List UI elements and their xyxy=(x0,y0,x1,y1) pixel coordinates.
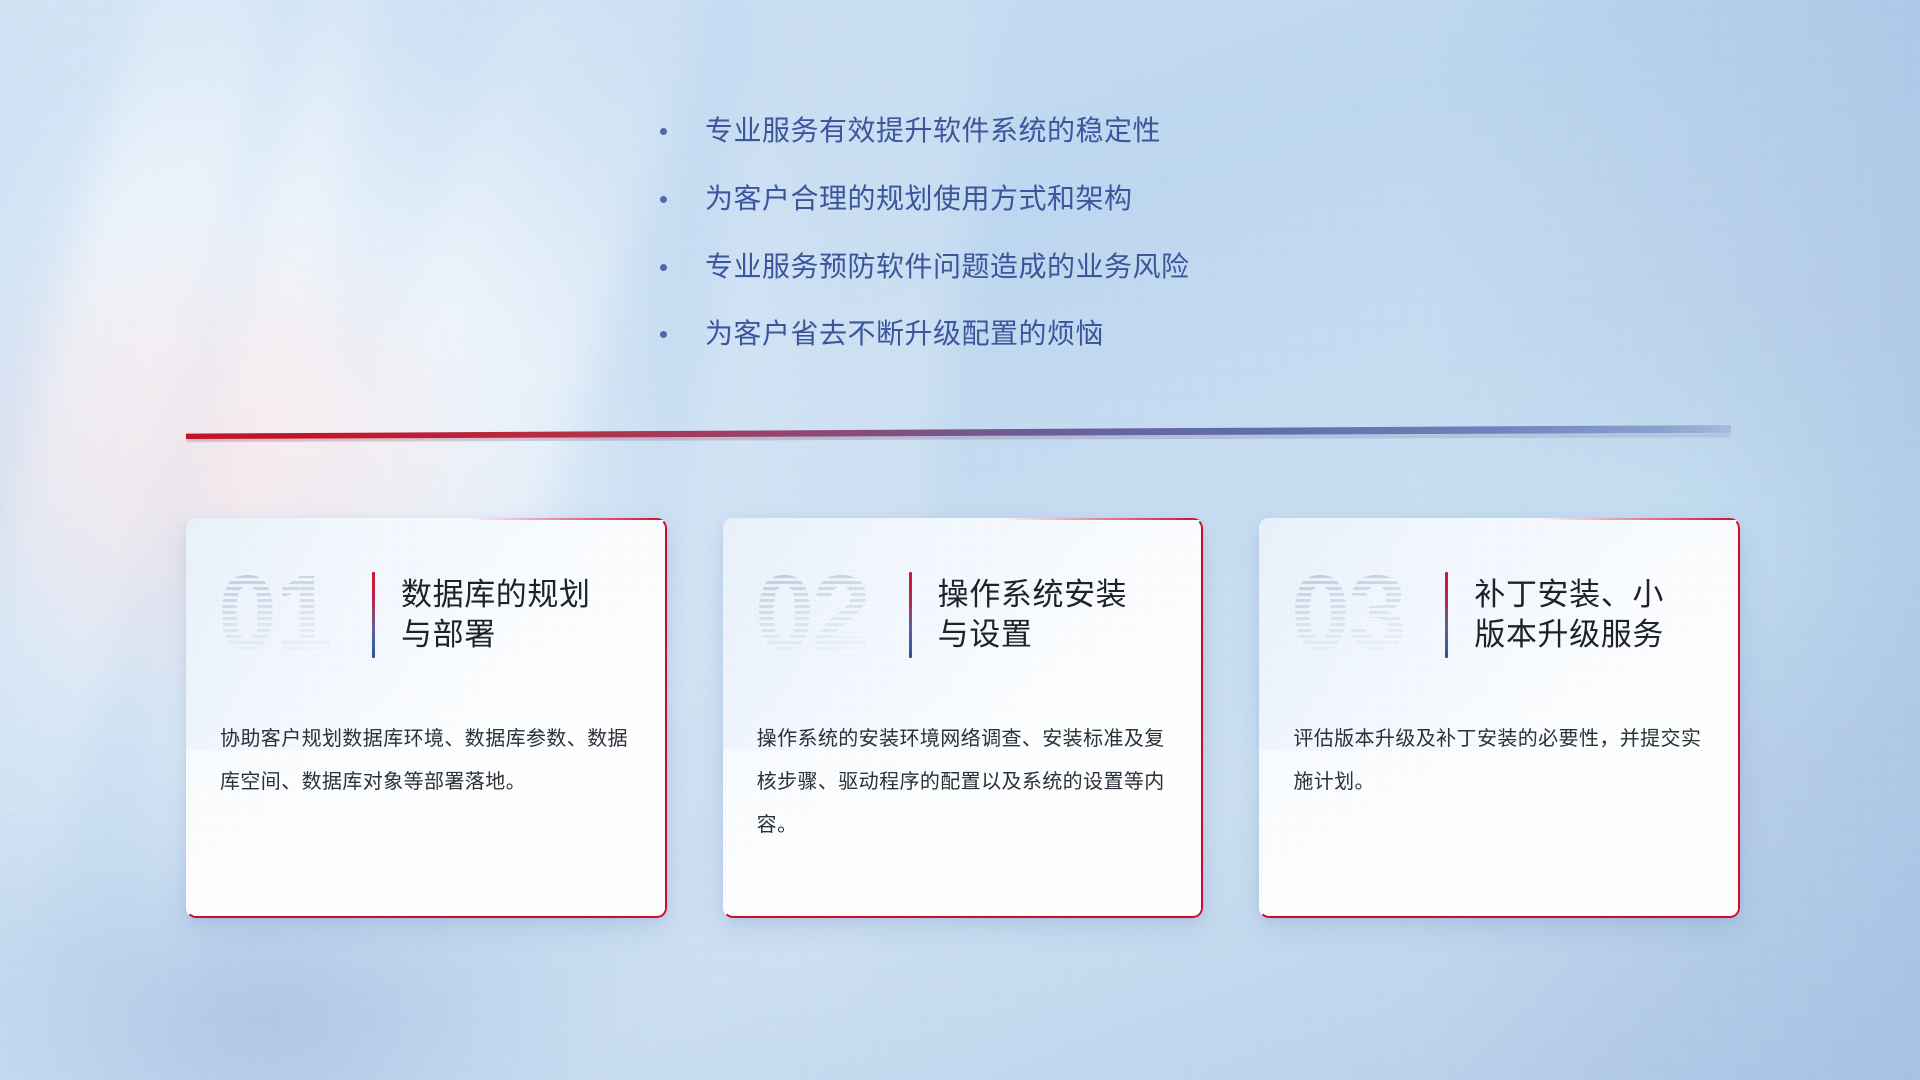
card-title-line-2: 与部署 xyxy=(401,615,591,655)
bullet-dot-icon xyxy=(660,264,667,271)
section-divider xyxy=(186,425,1731,439)
card-title: 数据库的规划 与部署 xyxy=(401,575,591,656)
bullet-item: 为客户省去不断升级配置的烦恼 xyxy=(660,315,1420,353)
ghost-number-01: 01 xyxy=(216,563,366,667)
svg-text:01: 01 xyxy=(218,563,332,667)
bullet-text: 为客户省去不断升级配置的烦恼 xyxy=(705,315,1104,353)
bullet-text: 专业服务有效提升软件系统的稳定性 xyxy=(705,112,1161,150)
slide-canvas: 专业服务有效提升软件系统的稳定性 为客户合理的规划使用方式和架构 专业服务预防软… xyxy=(0,0,1920,1080)
service-card[interactable]: 02 操作系统安装 与设置 操作系统的安装环境网络调查、安装标准及复核步骤、驱动… xyxy=(723,518,1204,918)
card-title-line-2: 版本升级服务 xyxy=(1474,615,1664,655)
bullet-text: 为客户合理的规划使用方式和架构 xyxy=(705,180,1133,218)
bullet-dot-icon xyxy=(660,331,667,338)
ghost-number-02: 02 xyxy=(753,563,903,667)
service-card[interactable]: 01 数据库的规划 与部署 协助客户规划数据库环境、数据库参数、数据库空间、数据… xyxy=(186,518,667,918)
svg-text:03: 03 xyxy=(1291,563,1405,667)
card-header: 02 操作系统安装 与设置 xyxy=(723,518,1204,678)
card-title-line-1: 补丁安装、小 xyxy=(1474,575,1664,615)
bullet-item: 专业服务有效提升软件系统的稳定性 xyxy=(660,112,1420,150)
ghost-number-03: 03 xyxy=(1289,563,1439,667)
card-accent-bar xyxy=(1445,572,1448,658)
card-body-text: 操作系统的安装环境网络调查、安装标准及复核步骤、驱动程序的配置以及系统的设置等内… xyxy=(723,678,1204,846)
bullet-dot-icon xyxy=(660,196,667,203)
benefits-bullet-list: 专业服务有效提升软件系统的稳定性 为客户合理的规划使用方式和架构 专业服务预防软… xyxy=(660,112,1420,383)
card-title: 补丁安装、小 版本升级服务 xyxy=(1474,575,1664,656)
card-body-text: 评估版本升级及补丁安装的必要性，并提交实施计划。 xyxy=(1259,678,1740,804)
card-body-text: 协助客户规划数据库环境、数据库参数、数据库空间、数据库对象等部署落地。 xyxy=(186,678,667,804)
svg-text:02: 02 xyxy=(755,563,869,667)
card-header: 03 补丁安装、小 版本升级服务 xyxy=(1259,518,1740,678)
bullet-dot-icon xyxy=(660,128,667,135)
card-accent-bar xyxy=(909,572,912,658)
card-header: 01 数据库的规划 与部署 xyxy=(186,518,667,678)
bullet-item: 专业服务预防软件问题造成的业务风险 xyxy=(660,248,1420,286)
card-title-line-1: 操作系统安装 xyxy=(938,575,1128,615)
service-card[interactable]: 03 补丁安装、小 版本升级服务 评估版本升级及补丁安装的必要性，并提交实施计划… xyxy=(1259,518,1740,918)
service-card-list: 01 数据库的规划 与部署 协助客户规划数据库环境、数据库参数、数据库空间、数据… xyxy=(186,518,1740,918)
bullet-text: 专业服务预防软件问题造成的业务风险 xyxy=(705,248,1190,286)
card-title: 操作系统安装 与设置 xyxy=(938,575,1128,656)
card-title-line-1: 数据库的规划 xyxy=(401,575,591,615)
card-title-line-2: 与设置 xyxy=(938,615,1128,655)
bullet-item: 为客户合理的规划使用方式和架构 xyxy=(660,180,1420,218)
card-accent-bar xyxy=(372,572,375,658)
